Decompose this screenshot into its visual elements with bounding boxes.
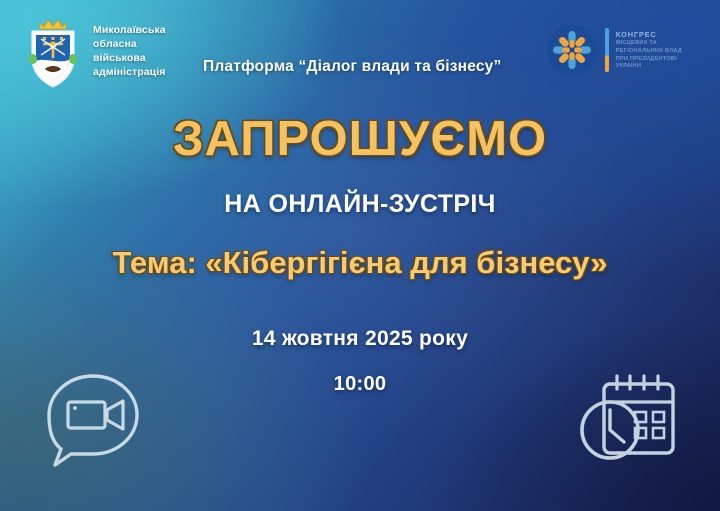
- oda-branding: Миколаївська обласна військова адміністр…: [22, 14, 166, 90]
- congress-name-line-3: РЕГІОНАЛЬНИХ ВЛАД: [616, 48, 682, 55]
- oda-name-block: Миколаївська обласна військова адміністр…: [93, 24, 166, 80]
- congress-name-block: КОНГРЕС МІСЦЕВИХ ТА РЕГІОНАЛЬНИХ ВЛАД ПР…: [616, 30, 682, 71]
- calendar-clock-icon: [578, 368, 684, 468]
- poster-header: Миколаївська обласна військова адміністр…: [0, 0, 720, 104]
- congress-name-line-5: УКРАЇНИ: [616, 63, 682, 70]
- oda-name-line-3: військова: [93, 52, 166, 66]
- platform-label: Платформа “Діалог влади та бізнесу”: [203, 58, 501, 76]
- congress-divider-bar: [605, 28, 609, 72]
- announcement-poster: Миколаївська обласна військова адміністр…: [0, 0, 720, 511]
- meeting-subtitle: НА ОНЛАЙН-ЗУСТРІЧ: [0, 167, 720, 219]
- oda-name-line-2: обласна: [93, 38, 166, 52]
- invite-title: ЗАПРОШУЄМО: [0, 104, 720, 167]
- congress-name-line-2: МІСЦЕВИХ ТА: [616, 40, 682, 47]
- meeting-topic: Тема: «Кібергігієна для бізнесу»: [95, 219, 625, 283]
- congress-name-line-1: КОНГРЕС: [616, 30, 682, 39]
- congress-pinwheel-logo-icon: [546, 24, 598, 76]
- mykolaiv-coat-of-arms-icon: [22, 14, 84, 90]
- video-chat-icon: [41, 369, 145, 469]
- oda-name-line-1: Миколаївська: [93, 24, 166, 38]
- congress-name-line-4: ПРИ ПРЕЗИДЕНТОВІ: [616, 56, 682, 63]
- meeting-date: 14 жовтня 2025 року: [0, 283, 720, 351]
- oda-name-line-4: адміністрація: [93, 66, 166, 80]
- congress-branding: КОНГРЕС МІСЦЕВИХ ТА РЕГІОНАЛЬНИХ ВЛАД ПР…: [546, 24, 682, 76]
- poster-content: ЗАПРОШУЄМО НА ОНЛАЙН-ЗУСТРІЧ Тема: «Кібе…: [0, 104, 720, 396]
